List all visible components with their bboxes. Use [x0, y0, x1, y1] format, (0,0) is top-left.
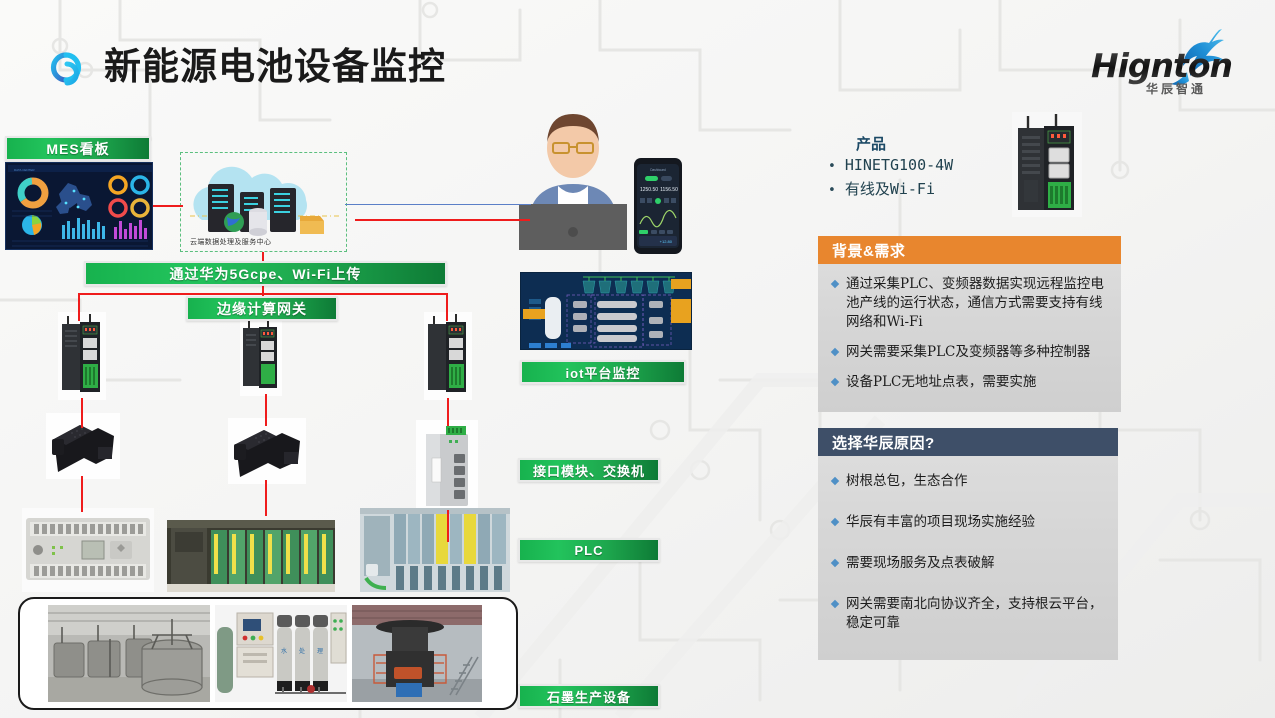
list-item: 通过采集PLC、变频器数据实现远程监控电池产线的运行状态，通信方式需要支持有线网… [828, 275, 1107, 332]
reasons-panel: 选择华辰原因? 树根总包，生态合作 华辰有丰富的项目现场实施经验 需要现场服务及… [818, 428, 1118, 660]
svg-text:1156.50: 1156.50 [660, 187, 678, 193]
svg-text:处: 处 [299, 647, 305, 655]
list-item: 网关需要采集PLC及变频器等多种控制器 [828, 343, 1107, 362]
svg-text:理: 理 [317, 648, 323, 655]
plc-banner: PLC [518, 538, 660, 562]
svg-text:1250.50: 1250.50 [640, 187, 658, 193]
gateway-device-left [58, 312, 106, 400]
photo-furnace [352, 605, 482, 702]
cloud-caption: 云端数据处理及服务中心 [190, 237, 271, 247]
product-section-title: 产品 [856, 133, 886, 154]
photo-water-treatment: 水处理 [215, 605, 347, 702]
product-gateway-image [1012, 112, 1082, 217]
mes-dashboard-banner: MES看板 [5, 136, 151, 161]
connector-switch-to-plc [447, 510, 449, 542]
page-title: 新能源电池设备监控 [104, 36, 446, 90]
connector-gw-center-to-module [265, 394, 267, 426]
connector-module-center-to-plc [265, 480, 267, 516]
iot-platform-banner: iot平台监控 [520, 360, 686, 384]
company-logo-chinese: 华辰智通 [1146, 80, 1206, 97]
reasons-panel-body: 树根总包，生态合作 华辰有丰富的项目现场实施经验 需要现场服务及点表破解 网关需… [818, 456, 1118, 660]
diamond-bullet-icon [831, 559, 839, 567]
list-item: 网关需要南北向协议齐全，支持根云平台，稳定可靠 [828, 595, 1104, 633]
svg-text:水: 水 [281, 647, 287, 655]
connector-bus-horizontal [78, 293, 448, 295]
list-item-text: 通过采集PLC、变频器数据实现远程监控电池产线的运行状态，通信方式需要支持有线网… [846, 275, 1107, 332]
reasons-panel-heading: 选择华辰原因? [818, 428, 1118, 456]
interface-module-center [228, 418, 306, 484]
svg-text:Dashboard: Dashboard [650, 168, 666, 172]
svg-text:DATA CENTER: DATA CENTER [14, 168, 35, 172]
gateway-device-right [424, 312, 472, 405]
mobile-app-image: Dashboard 1250.50 1156.50 +12.80 [634, 158, 682, 254]
page-header: 新能源电池设备监控 Hignton 华辰智通 [0, 0, 1275, 110]
product-list: HINETG100-4W 有线及Wi-Fi [828, 154, 953, 202]
iot-platform-screen-image [520, 272, 692, 350]
product-item: HINETG100-4W [828, 154, 953, 178]
list-item: 设备PLC无地址点表，需要实施 [828, 373, 1107, 392]
connector-bus-left-drop [78, 293, 80, 321]
diamond-bullet-icon [831, 477, 839, 485]
edge-gateway-banner: 边缘计算网关 [186, 296, 338, 321]
background-panel-heading: 背景&需求 [818, 236, 1121, 264]
graphite-equipment-banner: 石墨生产设备 [518, 684, 660, 708]
diamond-bullet-icon [831, 600, 839, 608]
plc-image-left [22, 508, 154, 592]
diamond-bullet-icon [831, 378, 839, 386]
mes-dashboard-image: DATA CENTER [5, 162, 153, 250]
list-item: 华辰有丰富的项目现场实施经验 [828, 513, 1104, 532]
list-item: 树根总包，生态合作 [828, 472, 1104, 491]
interface-switch-banner: 接口模块、交换机 [518, 458, 660, 482]
list-item: 需要现场服务及点表破解 [828, 554, 1104, 573]
connector-bus-right-drop [446, 293, 448, 321]
list-item-text: 网关需要南北向协议齐全，支持根云平台，稳定可靠 [846, 595, 1104, 633]
plc-image-right [360, 508, 510, 592]
connector-gw-right-to-switch [447, 398, 449, 426]
plc-image-center [167, 520, 335, 592]
company-logo: Hignton 华辰智通 [1091, 24, 1241, 102]
cloud-datacenter-image [182, 154, 345, 250]
background-panel-body: 通过采集PLC、变频器数据实现远程监控电池产线的运行状态，通信方式需要支持有线网… [818, 264, 1121, 412]
upload-method-banner: 通过华为5Gcpe、Wi-Fi上传 [84, 261, 447, 286]
gateway-device-center [240, 318, 282, 396]
interface-module-left [46, 413, 120, 479]
connector-module-left-to-plc [81, 476, 83, 512]
list-item-text: 树根总包，生态合作 [846, 472, 968, 491]
diamond-bullet-icon [831, 280, 839, 288]
list-item-text: 需要现场服务及点表破解 [846, 554, 995, 573]
list-item-text: 网关需要采集PLC及变频器等多种控制器 [846, 343, 1090, 362]
diamond-bullet-icon [831, 348, 839, 356]
list-item-text: 设备PLC无地址点表，需要实施 [846, 373, 1036, 392]
connector-cloud-laptop [345, 204, 531, 205]
operator-illustration [518, 98, 628, 250]
two-circles-logo-icon [36, 36, 94, 94]
background-requirements-panel: 背景&需求 通过采集PLC、变频器数据实现远程监控电池产线的运行状态，通信方式需… [818, 236, 1121, 412]
connector-mes-cloud [153, 205, 183, 207]
list-item-text: 华辰有丰富的项目现场实施经验 [846, 513, 1035, 532]
diamond-bullet-icon [831, 518, 839, 526]
svg-text:+12.80: +12.80 [660, 239, 673, 244]
ethernet-switch-image [416, 420, 478, 512]
connector-gw-left-to-module [81, 398, 83, 428]
product-item: 有线及Wi-Fi [828, 178, 953, 202]
connector-cloud-laptop-red [355, 219, 530, 221]
photo-reactor-vessels [48, 605, 210, 702]
